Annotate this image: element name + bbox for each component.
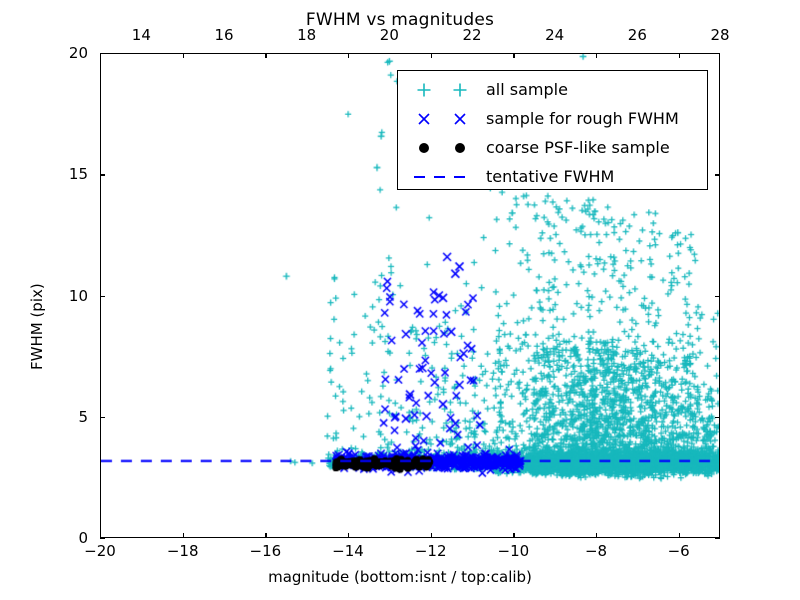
top-axis-tick-label: 18 [297,26,316,44]
x-tick-mark [679,533,680,538]
x-tick-label: −16 [250,542,282,560]
cross-marker-icon [408,107,482,131]
x-tick-label: −6 [668,542,690,560]
legend-label: sample for rough FWHM [482,109,679,128]
x-tick-mark [431,533,432,538]
y-tick-mark-right [715,296,720,297]
circle-marker-icon [408,136,482,160]
x-axis-label: magnitude (bottom:isnt / top:calib) [0,568,800,586]
page-title: FWHM vs magnitudes [0,10,800,30]
y-axis-label: FWHM (pix) [28,283,46,370]
top-axis-tick-label: 16 [214,26,233,44]
x-tick-mark [596,533,597,538]
dashed-line-icon [408,165,482,189]
figure-canvas: FWHM vs magnitudes −20−18−16−14−12−10−8−… [0,0,800,600]
x-tick-mark-top [513,53,514,58]
y-tick-mark [100,538,105,539]
y-tick-mark [100,296,105,297]
y-tick-mark-right [715,417,720,418]
x-tick-mark-top [183,53,184,58]
x-tick-mark-top [265,53,266,58]
y-tick-mark-right [715,174,720,175]
legend-item-all-sample[interactable]: all sample [398,75,707,104]
top-axis-tick-label: 24 [545,26,564,44]
y-tick-mark [100,53,105,54]
legend-item-tentative-fwhm[interactable]: tentative FWHM [398,162,707,191]
y-tick-label: 0 [48,529,88,547]
top-axis-tick-label: 28 [710,26,729,44]
top-axis-tick-label: 22 [462,26,481,44]
y-tick-label: 20 [48,44,88,62]
x-tick-label: −10 [498,542,530,560]
x-tick-label: −18 [167,542,199,560]
plus-marker-icon [408,78,482,102]
x-tick-label: −12 [415,542,447,560]
x-tick-mark-top [348,53,349,58]
y-tick-label: 10 [48,287,88,305]
x-tick-label: −20 [84,542,116,560]
x-tick-mark [513,533,514,538]
y-tick-mark-right [715,538,720,539]
x-tick-mark-top [596,53,597,58]
legend-box: all sample sample for rough FWHM coarse … [397,70,708,190]
top-axis-tick-label: 14 [132,26,151,44]
top-axis-tick-label: 20 [380,26,399,44]
top-axis-tick-label: 26 [628,26,647,44]
x-tick-mark [348,533,349,538]
x-tick-mark-top [431,53,432,58]
x-tick-label: −14 [332,542,364,560]
y-tick-label: 5 [48,408,88,426]
x-tick-label: −8 [585,542,607,560]
y-tick-mark-right [715,53,720,54]
x-tick-mark-top [679,53,680,58]
y-tick-mark [100,174,105,175]
legend-label: tentative FWHM [482,167,614,186]
x-tick-mark [183,533,184,538]
x-tick-mark [265,533,266,538]
y-tick-mark [100,417,105,418]
legend-item-rough-fwhm[interactable]: sample for rough FWHM [398,104,707,133]
legend-label: coarse PSF-like sample [482,138,670,157]
legend-item-coarse-psf[interactable]: coarse PSF-like sample [398,133,707,162]
y-tick-label: 15 [48,165,88,183]
legend-label: all sample [482,80,568,99]
